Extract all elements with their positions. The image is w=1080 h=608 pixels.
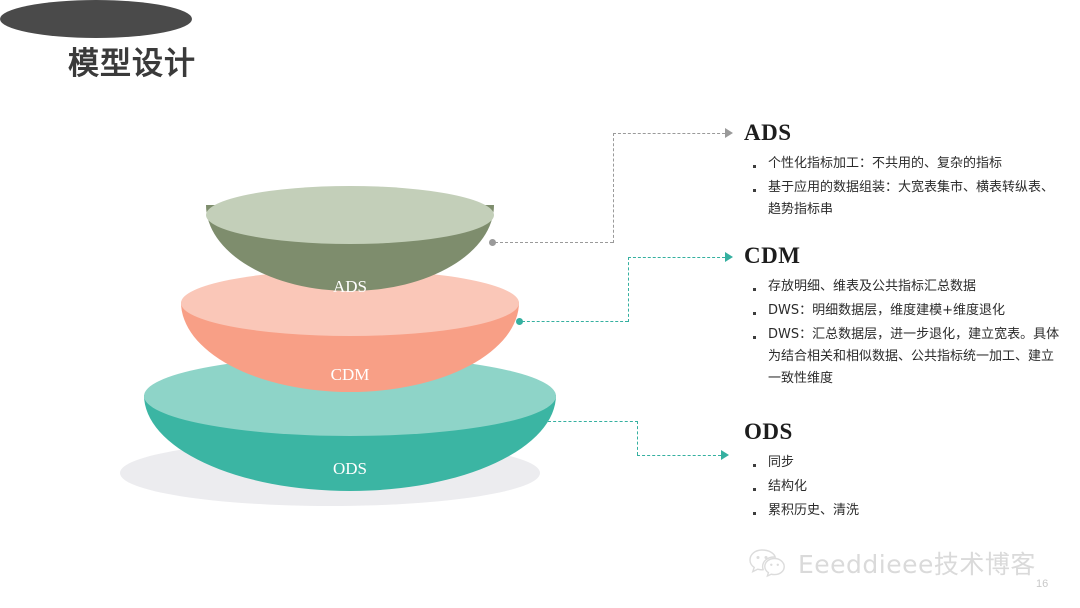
bullet-dot-icon: [753, 512, 756, 515]
block-ads-title: ADS: [744, 120, 1064, 146]
block-cdm-bullet-3-text: DWS：汇总数据层，进一步退化，建立宽表。具体为结合相关和相似数据、公共指标统一…: [768, 327, 1059, 386]
bullet-dot-icon: [753, 189, 756, 192]
connector-ads-arrow-icon: [725, 128, 733, 138]
block-ods-bullet-1-text: 同步: [768, 455, 794, 470]
block-ods-bullet-1: 同步: [744, 452, 1064, 474]
block-ods-bullet-2-text: 结构化: [768, 479, 807, 494]
connector-ads-segment-vertical: [613, 133, 614, 243]
bullet-dot-icon: [753, 488, 756, 491]
funnel-layer-ads-hole: [0, 0, 192, 38]
block-ods-bullet-3-text: 累积历史、清洗: [768, 503, 859, 518]
connector-ods-segment-horizontal-upper: [548, 421, 638, 422]
funnel-label-ads: ADS: [206, 277, 494, 297]
text-block-ods: ODS 同步 结构化 累积历史、清洗: [744, 419, 1064, 524]
bullet-dot-icon: [753, 288, 756, 291]
funnel-label-cdm: CDM: [181, 365, 519, 385]
block-ods-bullet-3: 累积历史、清洗: [744, 500, 1064, 522]
block-ods-title: ODS: [744, 419, 1064, 445]
block-ads-bullet-1: 个性化指标加工：不共用的、复杂的指标: [744, 153, 1064, 175]
connector-cdm-segment-horizontal-lower: [522, 321, 628, 322]
funnel-diagram: ADS CDM ODS: [0, 0, 620, 560]
connector-ods-segment-horizontal-lower: [637, 455, 721, 456]
connector-cdm-segment-horizontal-upper: [628, 257, 725, 258]
connector-ads-segment-horizontal-upper: [613, 133, 725, 134]
block-cdm-bullet-1-text: 存放明细、维表及公共指标汇总数据: [768, 279, 976, 294]
wechat-icon: [748, 547, 788, 579]
funnel-layer-ads-top: [206, 186, 494, 244]
block-ods-bullet-2: 结构化: [744, 476, 1064, 498]
page-number: 16: [1036, 578, 1048, 590]
block-cdm-bullet-1: 存放明细、维表及公共指标汇总数据: [744, 276, 1064, 298]
bullet-dot-icon: [753, 464, 756, 467]
slide-canvas: 模型设计 ADS CDM ODS: [0, 0, 1080, 608]
connector-ods-arrow-icon: [721, 450, 729, 460]
text-block-cdm: CDM 存放明细、维表及公共指标汇总数据 DWS：明细数据层，维度建模+维度退化…: [744, 243, 1064, 392]
connector-cdm-segment-vertical: [628, 257, 629, 322]
block-ads-bullet-2-text: 基于应用的数据组装：大宽表集市、横表转纵表、趋势指标串: [768, 180, 1054, 217]
block-cdm-bullet-2-text: DWS：明细数据层，维度建模+维度退化: [768, 303, 1005, 318]
block-cdm-title: CDM: [744, 243, 1064, 269]
block-cdm-bullet-3: DWS：汇总数据层，进一步退化，建立宽表。具体为结合相关和相似数据、公共指标统一…: [744, 324, 1064, 390]
bullet-dot-icon: [753, 336, 756, 339]
watermark: Eeeddieee技术博客: [748, 545, 1036, 581]
block-ads-bullet-1-text: 个性化指标加工：不共用的、复杂的指标: [768, 156, 1002, 171]
text-block-ads: ADS 个性化指标加工：不共用的、复杂的指标 基于应用的数据组装：大宽表集市、横…: [744, 120, 1064, 223]
block-ads-bullet-2: 基于应用的数据组装：大宽表集市、横表转纵表、趋势指标串: [744, 177, 1064, 221]
connector-cdm-arrow-icon: [725, 252, 733, 262]
connector-ads-segment-horizontal-lower: [495, 242, 613, 243]
bullet-dot-icon: [753, 165, 756, 168]
funnel-label-ods: ODS: [144, 459, 556, 479]
bullet-dot-icon: [753, 312, 756, 315]
connector-ods-segment-vertical: [637, 421, 638, 455]
watermark-text: Eeeddieee技术博客: [798, 545, 1036, 581]
block-cdm-bullet-2: DWS：明细数据层，维度建模+维度退化: [744, 300, 1064, 322]
